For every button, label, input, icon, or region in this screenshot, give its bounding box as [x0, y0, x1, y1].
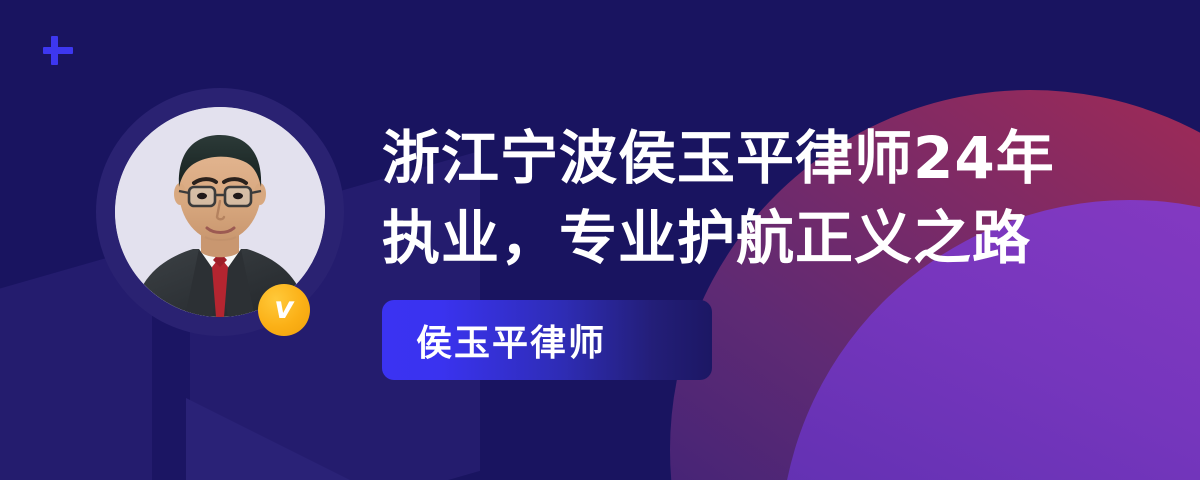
- avatar[interactable]: v: [96, 88, 344, 336]
- verified-badge-glyph: v: [274, 294, 294, 324]
- plus-icon-horizontal-bar: [43, 47, 73, 54]
- lawyer-name-button[interactable]: 侯玉平律师: [382, 300, 712, 380]
- headline-block: 浙江宁波侯玉平律师24年 执业，专业护航正义之路: [382, 118, 1082, 278]
- headline-line-2: 执业，专业护航正义之路: [382, 198, 1082, 278]
- lawyer-name-button-label: 侯玉平律师: [416, 314, 606, 366]
- plus-icon-vertical-bar: [51, 36, 58, 65]
- corner-wedge-shape: [0, 404, 150, 480]
- headline-line-1: 浙江宁波侯玉平律师24年: [382, 118, 1082, 198]
- triangle-shape: [186, 398, 426, 480]
- lawyer-profile-banner: v 浙江宁波侯玉平律师24年 执业，专业护航正义之路 侯玉平律师: [0, 0, 1200, 480]
- plus-icon: [40, 32, 76, 68]
- verified-badge-icon: v: [258, 284, 310, 336]
- vertical-band-shape: [152, 316, 190, 480]
